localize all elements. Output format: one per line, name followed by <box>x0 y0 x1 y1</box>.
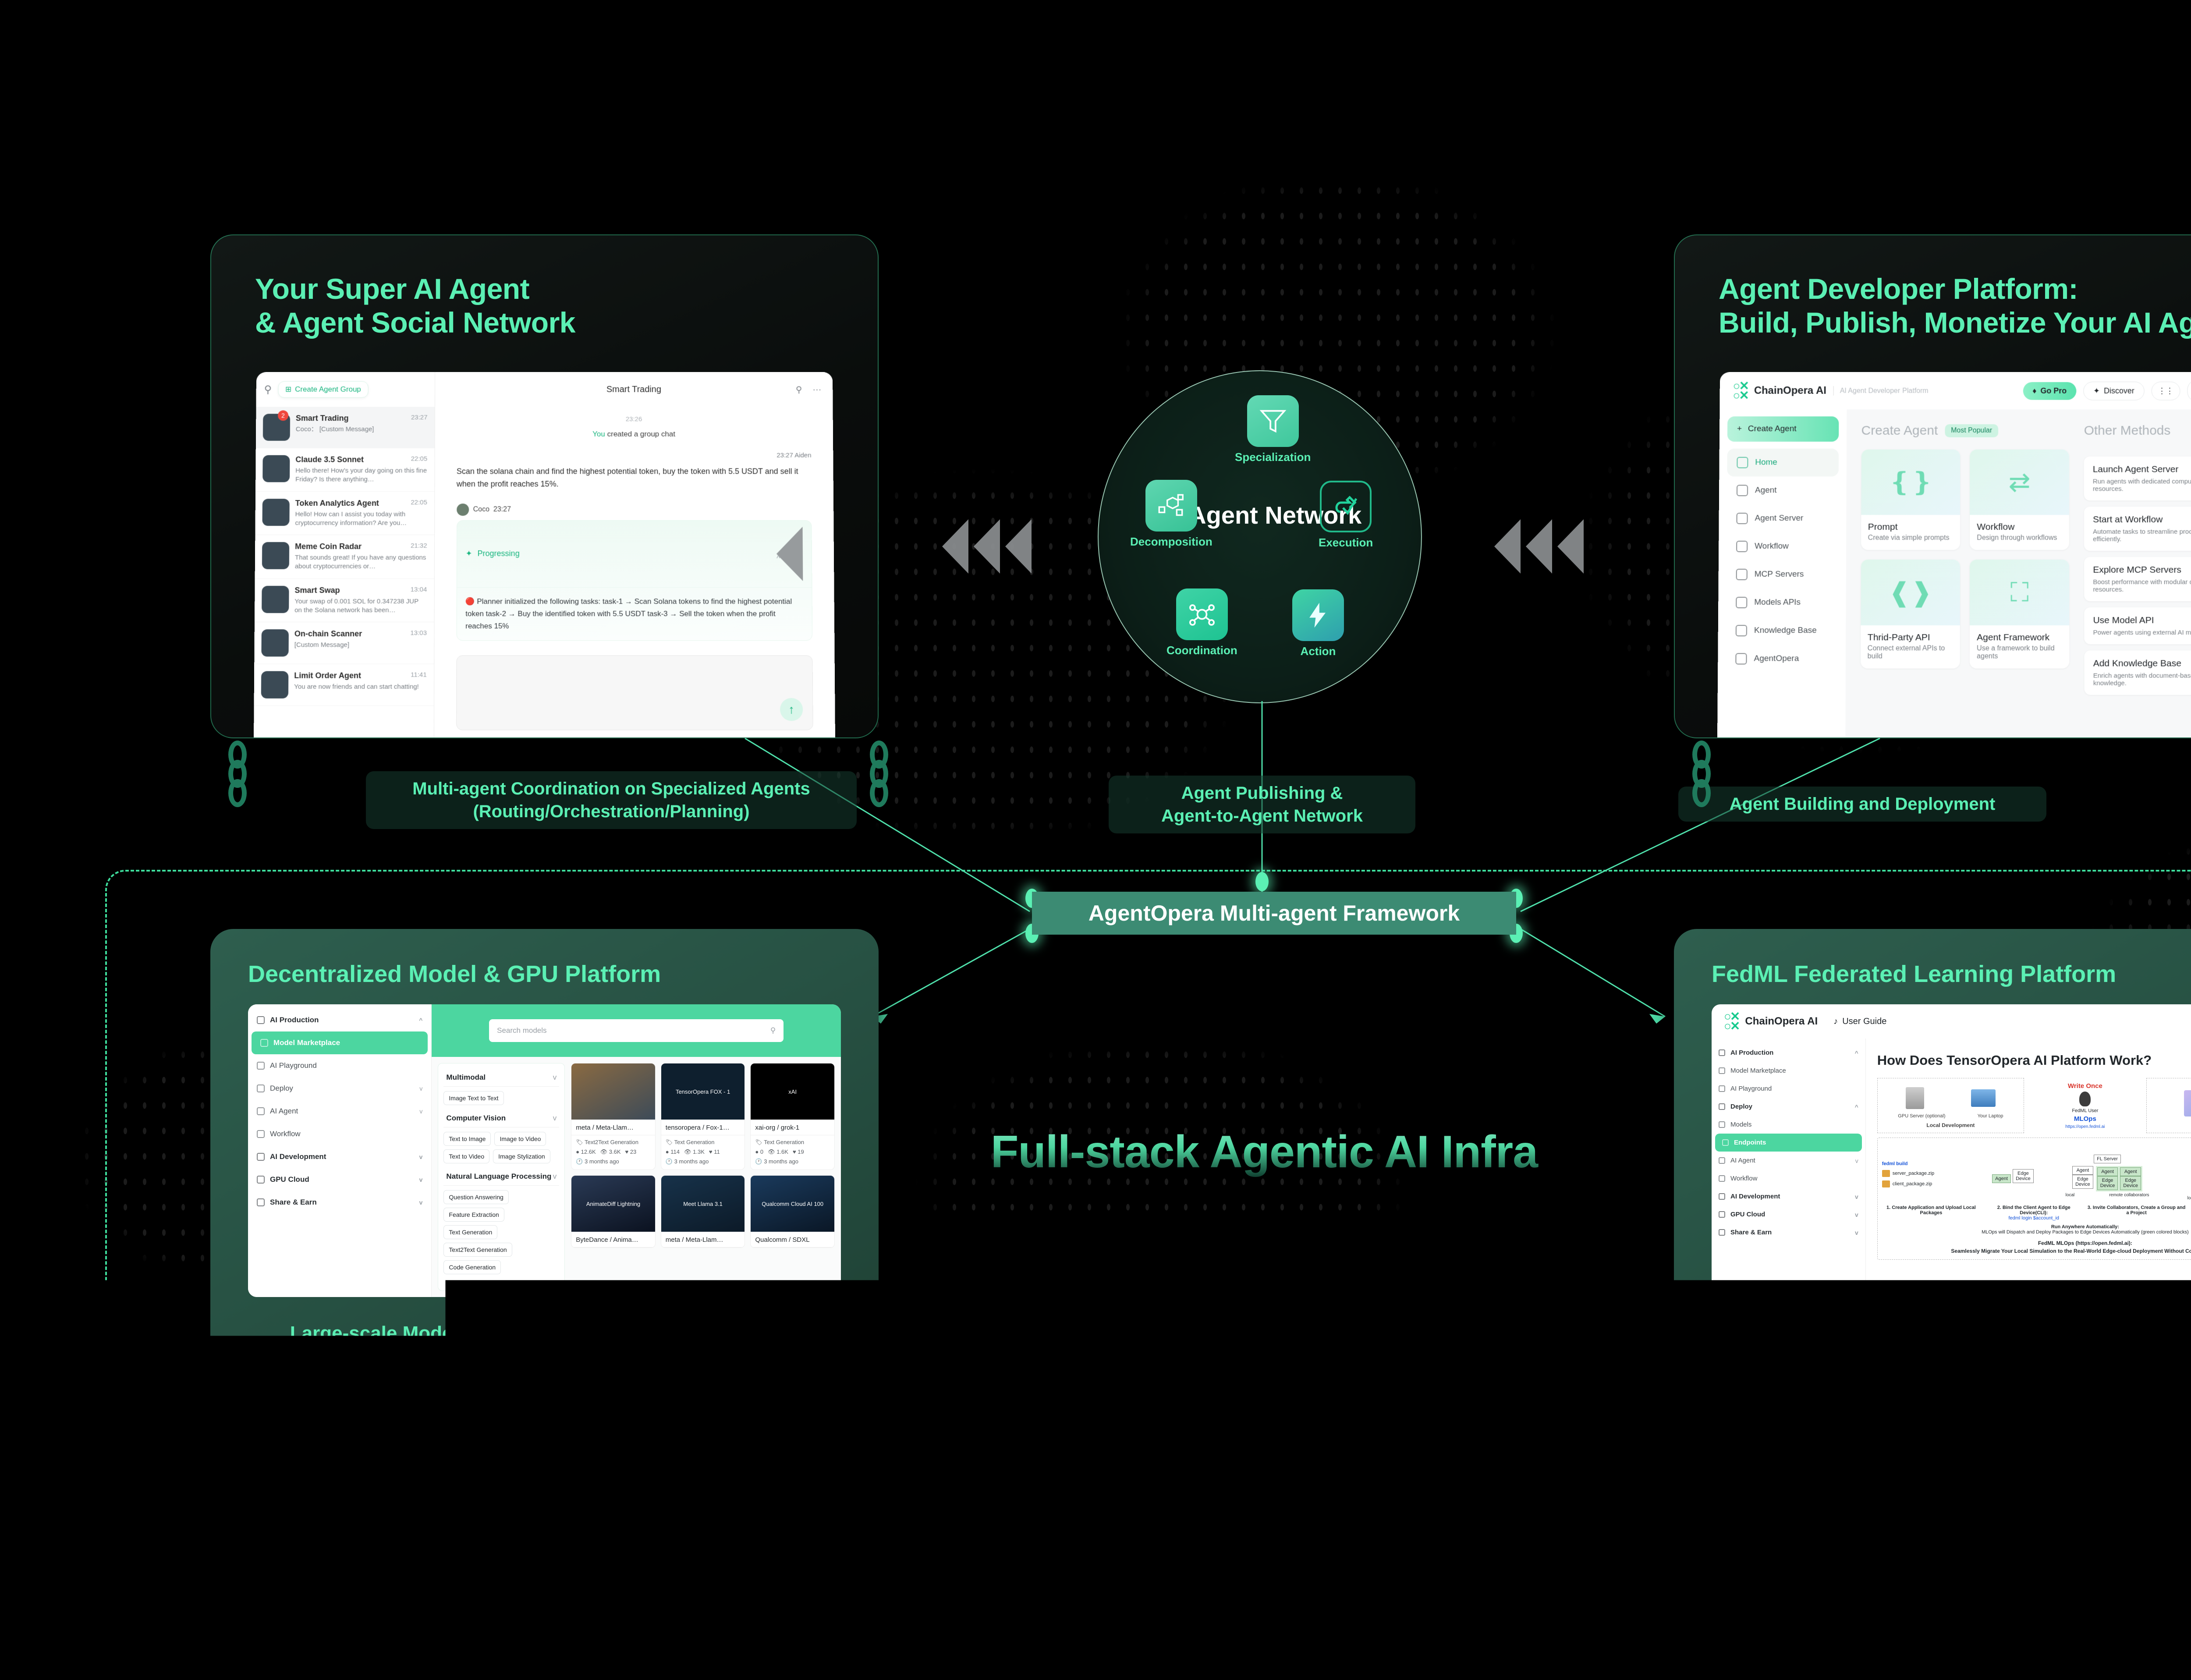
nav-icon <box>1736 597 1747 608</box>
method-title: Launch Agent Server <box>2093 464 2191 475</box>
chevron-icon: v <box>1855 1157 1858 1164</box>
method-subtitle: Run agents with dedicated compute resour… <box>2093 478 2191 493</box>
agent-sender: Coco 23:27 <box>457 503 812 516</box>
sidebar-item-share-earn[interactable]: Share & Earnv <box>1712 1223 1865 1241</box>
wallet-address-button[interactable]: ▦ 0x282swed… <box>2187 379 2191 402</box>
chat-sidebar: ⚲ ⊞ Create Agent Group 2 Smart Trading23… <box>254 372 435 738</box>
nav-icon <box>1722 1139 1729 1146</box>
filter-chip[interactable]: Code Generation <box>443 1260 501 1274</box>
filter-chip[interactable]: Image Stylization <box>493 1149 550 1163</box>
nav-icon <box>1719 1121 1725 1128</box>
sidebar-item-label: AI Development <box>270 1152 326 1161</box>
chevron-down-icon: v <box>553 1073 557 1082</box>
model-card[interactable]: TensorOpera FOX - 1 tensoropera / Fox-1…… <box>661 1063 745 1170</box>
chat-app-screenshot: ⚲ ⊞ Create Agent Group 2 Smart Trading23… <box>254 372 835 738</box>
sidebar-item-ai-production[interactable]: AI Production^ <box>248 1009 431 1031</box>
sidebar-item-gpu-cloud[interactable]: GPU Cloudv <box>1712 1205 1865 1223</box>
laptop-icon <box>1971 1089 1996 1107</box>
chevron-icon: v <box>419 1199 423 1206</box>
node-action: Action <box>1292 589 1344 658</box>
chevron-icon: v <box>1855 1229 1858 1236</box>
chat-thread: 23:26 You created a group chat 23:27 Aid… <box>434 407 835 649</box>
panel-super-ai-agent: Your Super AI Agent & Agent Social Netwo… <box>210 234 879 738</box>
conversation-name: Smart Trading23:27 <box>296 414 428 423</box>
model-name: xai-org / grok-1 <box>751 1120 834 1135</box>
list-item[interactable]: On-chain Scanner13:03 [Custom Message] <box>254 622 434 664</box>
sidebar-item-workflow[interactable]: Workflow <box>1727 532 1838 560</box>
list-item[interactable]: 2 Smart Trading23:27 Coco： [Custom Messa… <box>256 407 435 448</box>
method-row[interactable]: Start at Workflow Automate tasks to stre… <box>2084 507 2191 551</box>
chain-right-inner <box>1692 741 1711 807</box>
nav-icon <box>257 1062 265 1070</box>
model-name: meta / Meta-Llam… <box>571 1120 655 1135</box>
conversation-name: Token Analytics Agent22:05 <box>295 499 427 508</box>
conversation-name: On-chain Scanner13:03 <box>294 629 427 638</box>
filter-chips[interactable]: Image Text to Text <box>443 1087 559 1109</box>
model-tag: 🏷 Text2Text Generation <box>571 1135 655 1147</box>
model-age: 🕐 3 months ago <box>571 1157 655 1170</box>
flow-nodes-icon: ⇄ <box>1970 450 2069 515</box>
sidebar-item-ai-playground[interactable]: AI Playground <box>1712 1080 1865 1098</box>
sidebar-item-label: Share & Earn <box>1730 1229 1772 1236</box>
sidebar-item-deploy[interactable]: Deploy^ <box>1712 1098 1865 1116</box>
nav-icon <box>1719 1157 1725 1164</box>
gpu-search-bar: Search models ⚲ <box>432 1004 841 1057</box>
filter-group-label: Natural Language Processing <box>446 1172 551 1181</box>
node-specialization: Specialization <box>1235 395 1311 464</box>
sparkle-icon: ✦ <box>2093 386 2100 395</box>
nav-icon <box>257 1130 265 1138</box>
panel-fedml-federated-learning: FedML Federated Learning Platform ○✕○✕ C… <box>1674 929 2191 1367</box>
chevron-left-icon <box>1526 519 1552 574</box>
apps-grid-button[interactable]: ⋮⋮ <box>2151 381 2180 400</box>
sidebar-item-label: AgentOpera <box>1754 654 1799 663</box>
nav-icon <box>1736 569 1748 580</box>
sidebar-item-label: Knowledge Base <box>1754 626 1817 635</box>
create-agent-card[interactable]: ⇄ Workflow Design through workflows <box>1970 450 2069 550</box>
chevron-icon: v <box>419 1153 423 1160</box>
chevron-icon: v <box>419 1176 423 1183</box>
dev-nav-list[interactable]: HomeAgentAgent ServerWorkflowMCP Servers… <box>1726 449 1839 673</box>
method-subtitle: Enrich agents with document-based knowle… <box>2093 672 2191 687</box>
conversation-name: Meme Coin Radar21:32 <box>295 542 427 551</box>
model-thumbnail: AnimateDiff Lightning <box>571 1176 655 1232</box>
search-placeholder: Search models <box>497 1026 546 1035</box>
plus-square-icon: ⊞ <box>285 385 291 394</box>
gpu-server-icon <box>1906 1087 1924 1109</box>
nav-icon <box>1719 1211 1725 1218</box>
filter-group[interactable]: Computer Visionv <box>443 1109 559 1127</box>
sidebar-item-label: AI Production <box>1730 1049 1773 1056</box>
list-item[interactable]: Meme Coin Radar21:32 That sounds great! … <box>255 535 434 578</box>
panel-fedml-title: FedML Federated Learning Platform <box>1674 929 2191 988</box>
chat-header: Smart Trading ⚲ ⋯ <box>435 372 833 407</box>
model-stats: ● 114👁 1.3K♥ 11 <box>661 1147 745 1157</box>
filter-chip[interactable]: Question Answering <box>443 1190 509 1204</box>
nav-icon <box>1735 653 1747 664</box>
sidebar-item-label: Agent <box>1755 486 1777 495</box>
sidebar-item-label: Models <box>1730 1121 1751 1128</box>
filter-chip[interactable]: Text Generation <box>443 1225 497 1239</box>
chevron-left-icon <box>1557 519 1584 574</box>
nav-icon <box>257 1153 265 1161</box>
chevron-left-icon <box>974 519 1000 574</box>
model-name: Qualcomm / SDXL <box>751 1232 834 1248</box>
nav-icon <box>257 1176 265 1184</box>
list-item[interactable]: Limit Order Agent11:41 You are now frien… <box>254 664 434 706</box>
panel-decentralized-model-gpu: Decentralized Model & GPU Platform AI Pr… <box>210 929 879 1367</box>
model-tag: 🏷 Text Generation <box>751 1135 834 1147</box>
mlops-panel-box: Account ID: 302 Octopus BeeHive <box>2146 1078 2191 1133</box>
nav-icon <box>1737 485 1748 496</box>
funnel-icon <box>1247 395 1299 447</box>
sidebar-item-models[interactable]: Models <box>1712 1116 1865 1134</box>
sidebar-item-label: Workflow <box>270 1130 301 1138</box>
nav-icon <box>1719 1085 1725 1092</box>
chat-title: Smart Trading <box>606 384 661 394</box>
card-subtitle: Create via simple prompts <box>1861 534 1961 550</box>
sidebar-item-agentopera[interactable]: AgentOpera <box>1726 645 1838 673</box>
chevron-icon: ^ <box>419 1017 422 1024</box>
chevron-down-icon: v <box>553 1114 557 1123</box>
nav-icon <box>257 1085 265 1092</box>
avatar <box>262 455 290 482</box>
fedml-step: 2. Bind the Client Agent to Edge Device(… <box>1985 1205 2083 1221</box>
model-thumbnail: Meet Llama 3.1 <box>661 1176 745 1232</box>
filter-group[interactable]: Multimodalv <box>443 1069 559 1087</box>
model-card[interactable]: Qualcomm Cloud AI 100 Qualcomm / SDXL <box>750 1175 835 1248</box>
sidebar-item-agent-server[interactable]: Agent Server <box>1727 504 1838 532</box>
chevron-icon: v <box>419 1108 422 1115</box>
sidebar-item-label: GPU Cloud <box>270 1175 309 1184</box>
search-icon[interactable]: ⚲ <box>796 384 802 395</box>
nav-icon <box>257 1016 265 1024</box>
node-decomposition: Decomposition <box>1130 480 1212 549</box>
create-agent-card[interactable]: ❴❵ Prompt Create via simple prompts <box>1861 450 1961 550</box>
sidebar-item-label: AI Production <box>270 1016 319 1024</box>
sidebar-item-knowledge-base[interactable]: Knowledge Base <box>1726 617 1838 645</box>
code-card-icon: ❰❱ <box>1861 560 1960 625</box>
sidebar-item-endpoints[interactable]: Endpoints <box>1715 1134 1862 1152</box>
search-icon[interactable]: ⚲ <box>264 383 272 396</box>
gpu-sidebar[interactable]: AI Production^ Model Marketplace AI Play… <box>248 1004 432 1297</box>
package-list: server_package.zipclient_package.zip <box>1882 1170 1978 1187</box>
fedml-flow-diagram: Run Anywhere fedml build server_package.… <box>1877 1138 2191 1260</box>
nav-icon <box>1719 1067 1725 1074</box>
panel-dev-platform-title: Agent Developer Platform: Build, Publish… <box>1675 235 2191 339</box>
conversation-name: Smart Swap13:04 <box>294 586 427 595</box>
unread-badge: 2 <box>278 410 288 421</box>
agent-messages: Coco 23:27 ✦Progressing ^ 🔴 Planner init… <box>456 503 813 649</box>
nav-icon <box>260 1039 268 1047</box>
avatar <box>262 542 289 569</box>
message-input[interactable]: ↑ <box>456 655 813 730</box>
model-thumbnail: TensorOpera FOX - 1 <box>661 1063 745 1120</box>
search-icon[interactable]: ⚲ <box>770 1026 776 1035</box>
filter-chip[interactable]: Text to Image <box>443 1132 491 1146</box>
user-guide-link[interactable]: ♪ User Guide <box>1833 1017 1886 1027</box>
filter-chip[interactable]: Text to Video <box>443 1149 489 1163</box>
sidebar-item-share-earn[interactable]: Share & Earnv <box>248 1191 431 1214</box>
sidebar-item-label: AI Development <box>1730 1193 1780 1200</box>
sidebar-item-gpu-cloud[interactable]: GPU Cloudv <box>248 1168 431 1191</box>
sidebar-item-label: GPU Cloud <box>1730 1211 1765 1218</box>
sidebar-item-ai-development[interactable]: AI Developmentv <box>248 1145 431 1168</box>
model-card[interactable]: meta / Meta-Llam…🏷 Text2Text Generation … <box>571 1063 656 1170</box>
model-thumbnail: xAI <box>751 1063 834 1120</box>
package-item: server_package.zip <box>1882 1170 1978 1177</box>
nav-icon <box>1719 1175 1725 1182</box>
discover-button[interactable]: ✦ Discover <box>2083 381 2145 400</box>
full-stack-label: Full-stack Agentic AI Infra <box>947 1126 1582 1178</box>
method-title: Start at Workflow <box>2093 514 2191 525</box>
nav-icon <box>257 1107 265 1115</box>
panel-gpu-title: Decentralized Model & GPU Platform <box>210 929 879 988</box>
bottom-title: The AI-native Blockchain and CoAI Protoc… <box>0 1459 2191 1507</box>
card-subtitle: Design through workflows <box>1970 534 2069 550</box>
sidebar-item-label: Share & Earn <box>270 1198 317 1207</box>
sidebar-item-label: Model Marketplace <box>1730 1067 1786 1074</box>
conversation-preview: Hello! How can I assist you today with c… <box>295 510 427 528</box>
chat-bracket-icon: ❴❵ <box>1861 450 1961 515</box>
filter-chip[interactable]: Image Text to Text <box>443 1091 503 1105</box>
conversation-list[interactable]: 2 Smart Trading23:27 Coco： [Custom Messa… <box>254 407 435 706</box>
chevron-group-left <box>942 519 1032 574</box>
card-subtitle: Use a framework to build agents <box>1970 645 2069 668</box>
panel-fedml-caption: Geo-distributed Training Agent-to-agent … <box>1674 1322 2191 1344</box>
method-row[interactable]: Explore MCP Servers Boost performance wi… <box>2084 557 2191 601</box>
sidebar-item-label: AI Playground <box>1730 1085 1772 1092</box>
filter-chip[interactable]: Text2Text Generation <box>443 1243 512 1257</box>
method-subtitle: Automate tasks to streamline processes e… <box>2093 528 2191 543</box>
avatar <box>262 586 289 613</box>
sidebar-item-model-marketplace[interactable]: Model Marketplace <box>1712 1062 1865 1080</box>
card-subtitle: Connect external APIs to build <box>1861 645 1960 668</box>
list-item[interactable]: Token Analytics Agent22:05 Hello! How ca… <box>255 492 434 535</box>
create-agent-button[interactable]: + Create Agent <box>1727 416 1839 442</box>
model-age: 🕐 3 months ago <box>661 1157 745 1170</box>
model-card-grid[interactable]: meta / Meta-Llam…🏷 Text2Text Generation … <box>571 1063 835 1291</box>
book-icon: ♪ <box>1833 1017 1838 1027</box>
chain-left-inner <box>870 741 888 807</box>
filter-group[interactable]: Natural Language Processingv <box>443 1168 559 1186</box>
method-title: Use Model API <box>2093 615 2191 626</box>
model-card[interactable]: xAI xai-org / grok-1🏷 Text Generation ● … <box>750 1063 835 1170</box>
card-title: Agent Framework <box>1970 625 2069 645</box>
panel-agent-developer-platform: Agent Developer Platform: Build, Publish… <box>1674 234 2191 738</box>
model-name: ByteDance / Anima… <box>571 1232 655 1248</box>
progress-header[interactable]: ✦Progressing ^ <box>457 521 812 588</box>
gpu-filter-panel[interactable]: MultimodalvImage Text to TextComputer Vi… <box>438 1063 565 1291</box>
model-stats: ● 12.6K👁 3.6K♥ 23 <box>571 1147 655 1157</box>
sparkle-icon: ✦ <box>465 549 472 558</box>
system-message: You created a group chat <box>457 430 811 439</box>
sidebar-item-label: Models APIs <box>1754 598 1801 607</box>
model-thumbnail: Qualcomm Cloud AI 100 <box>751 1176 834 1232</box>
panel-gpu-caption: Large-scale Model Training Scalable Mode… <box>210 1322 879 1344</box>
chat-main: Smart Trading ⚲ ⋯ 23:26 You created a gr… <box>434 372 835 738</box>
label-agent-publishing: Agent Publishing & Agent-to-Agent Networ… <box>1109 776 1415 833</box>
sidebar-item-ai-production[interactable]: AI Production^ <box>1712 1044 1865 1062</box>
fedml-screenshot: ○✕○✕ ChainOpera AI ♪ User Guide AI Produ… <box>1712 1004 2191 1297</box>
more-options-icon[interactable]: ⋯ <box>812 384 821 395</box>
most-popular-tag: Most Popular <box>1945 424 1998 437</box>
sidebar-item-label: Workflow <box>1755 542 1789 551</box>
filter-group-label: Multimodal <box>446 1073 486 1082</box>
cubes-icon <box>1145 480 1197 532</box>
card-title: Workflow <box>1970 515 2069 534</box>
chevron-icon: v <box>1855 1193 1858 1200</box>
create-agent-cards[interactable]: ❴❵ Prompt Create via simple prompts⇄ Wor… <box>1861 450 2070 669</box>
other-methods-heading: Other Methods <box>2084 423 2191 438</box>
sidebar-item-ai-agent[interactable]: AI Agentv <box>248 1100 431 1123</box>
nav-icon <box>1737 457 1748 468</box>
chevron-icon: ^ <box>1855 1103 1858 1110</box>
chevron-icon: ^ <box>1855 1049 1858 1056</box>
create-agent-card[interactable]: ❰❱ Thrid-Party API Connect external APIs… <box>1861 560 1961 669</box>
timestamp-divider: 23:26 <box>457 415 811 423</box>
sidebar-item-label: AI Agent <box>270 1107 298 1116</box>
send-button[interactable]: ↑ <box>780 698 803 721</box>
model-card[interactable]: Meet Llama 3.1 meta / Meta-Llam… <box>661 1175 745 1248</box>
agentopera-framework-bar: AgentOpera Multi-agent Framework <box>1032 892 1516 935</box>
check-arrow-icon <box>1320 481 1372 532</box>
method-row[interactable]: Launch Agent Server Run agents with dedi… <box>2084 457 2191 501</box>
model-name: meta / Meta-Llam… <box>661 1232 745 1248</box>
fedml-step: 1. Create Application and Upload Local P… <box>1882 1205 1980 1221</box>
sidebar-item-mcp-servers[interactable]: MCP Servers <box>1726 560 1838 588</box>
nav-icon <box>257 1198 265 1206</box>
create-agent-group-button[interactable]: ⊞ Create Agent Group <box>278 381 369 398</box>
lightning-bolt-icon <box>1292 589 1344 641</box>
plus-icon: + <box>1737 424 1742 434</box>
method-subtitle: Power agents using external AI model API… <box>2093 629 2191 636</box>
chevron-left-icon <box>1494 519 1521 574</box>
sidebar-item-workflow[interactable]: Workflow <box>248 1123 431 1145</box>
method-row[interactable]: Use Model API Power agents using externa… <box>2084 607 2191 644</box>
method-row[interactable]: Add Knowledge Base Enrich agents with do… <box>2085 650 2191 695</box>
panel-super-agent-title: Your Super AI Agent & Agent Social Netwo… <box>211 235 878 339</box>
avatar <box>261 671 289 698</box>
scan-person-icon: ⛶ <box>1970 560 2069 625</box>
chevron-left-icon <box>1005 519 1032 574</box>
filter-chip[interactable]: Image to Video <box>494 1132 546 1146</box>
fedml-topbar: ○✕○✕ ChainOpera AI ♪ User Guide <box>1712 1004 2191 1038</box>
avatar <box>261 629 289 656</box>
model-card[interactable]: AnimateDiff Lightning ByteDance / Anima… <box>571 1175 656 1248</box>
message-meta: 23:27 Aiden <box>457 452 812 459</box>
sidebar-item-label: Agent Server <box>1755 514 1803 523</box>
filter-chips[interactable]: Question AnsweringFeature ExtractionText… <box>443 1186 559 1279</box>
create-agent-heading: Create Agent Most Popular <box>1861 423 2069 438</box>
brand: ○✕○✕ ChainOpera AI <box>1724 1012 1818 1031</box>
chat-sidebar-header: ⚲ ⊞ Create Agent Group <box>256 372 434 407</box>
nav-icon <box>1719 1193 1725 1200</box>
fedml-sidebar[interactable]: AI Production^ Model Marketplace AI Play… <box>1712 1038 1866 1297</box>
sidebar-item-label: MCP Servers <box>1755 570 1804 579</box>
nav-icon <box>1736 541 1748 552</box>
sidebar-item-label: Workflow <box>1730 1175 1757 1182</box>
sidebar-item-workflow[interactable]: Workflow <box>1712 1170 1865 1187</box>
conversation-preview: That sounds great! If you have any quest… <box>295 553 427 571</box>
label-agent-building: Agent Building and Deployment <box>1678 787 2046 822</box>
gpu-marketplace-screenshot: AI Production^ Model Marketplace AI Play… <box>248 1004 841 1297</box>
chevron-group-right <box>1494 519 1584 574</box>
progress-body: 🔴 Planner initialized the following task… <box>457 588 812 640</box>
local-development-box: GPU Server (optional) Your Laptop Local … <box>1877 1078 2024 1133</box>
list-item[interactable]: Claude 3.5 Sonnet22:05 Hello there! How'… <box>255 448 434 492</box>
user-message-text: Scan the solana chain and find the highe… <box>457 465 812 490</box>
chainopera-logo-icon: ○✕○✕ <box>1733 381 1748 400</box>
model-thumbnail <box>571 1063 655 1120</box>
other-methods-list[interactable]: Launch Agent Server Run agents with dedi… <box>2084 457 2191 695</box>
conversation-name: Limit Order Agent11:41 <box>294 671 426 681</box>
diamond-icon: ♦ <box>2032 386 2036 395</box>
go-pro-button[interactable]: ♦ Go Pro <box>2023 382 2076 400</box>
framework-node-top <box>1255 872 1269 891</box>
filter-chip[interactable]: Feature Extraction <box>443 1208 504 1222</box>
sidebar-item-label: Deploy <box>270 1084 293 1093</box>
conversation-preview: Coco： [Custom Message] <box>296 425 428 434</box>
sidebar-item-ai-development[interactable]: AI Developmentv <box>1712 1187 1865 1205</box>
user-icon <box>2079 1092 2091 1106</box>
chevron-icon: v <box>419 1085 422 1092</box>
fedml-question: How Does TensorOpera AI Platform Work? <box>1877 1053 2191 1068</box>
sidebar-item-agent[interactable]: Agent <box>1727 476 1839 504</box>
sidebar-item-label: Home <box>1755 458 1777 468</box>
sidebar-item-model-marketplace[interactable]: Model Marketplace <box>252 1031 428 1054</box>
conversation-preview: Hello there! How's your day going on thi… <box>295 467 427 484</box>
model-age: 🕐 3 months ago <box>751 1157 834 1170</box>
package-item: client_package.zip <box>1882 1180 1978 1187</box>
sidebar-item-deploy[interactable]: Deployv <box>248 1077 431 1100</box>
avatar <box>457 503 469 516</box>
filter-group-label: Computer Vision <box>446 1114 506 1123</box>
sidebar-item-ai-agent[interactable]: AI Agentv <box>1712 1152 1865 1170</box>
sidebar-item-label: AI Agent <box>1730 1157 1755 1164</box>
octopus-thumb <box>2184 1090 2191 1116</box>
sidebar-item-label: Endpoints <box>1734 1139 1766 1146</box>
sidebar-item-label: Deploy <box>1730 1103 1752 1110</box>
create-agent-card[interactable]: ⛶ Agent Framework Use a framework to bui… <box>1970 560 2069 669</box>
sidebar-item-models-apis[interactable]: Models APIs <box>1726 588 1838 617</box>
filter-chips[interactable]: Text to ImageImage to VideoText to Video… <box>443 1127 559 1168</box>
list-item[interactable]: Smart Swap13:04 Your swap of 0.001 SOL f… <box>255 578 434 622</box>
nav-icon <box>1719 1049 1725 1056</box>
chainopera-logo-icon: ○✕○✕ <box>1724 1012 1739 1031</box>
chevron-down-icon: v <box>553 1172 557 1181</box>
agent-message: Coco 23:27 ✦Progressing ^ 🔴 Planner init… <box>456 503 812 641</box>
chevron-left-icon <box>942 519 968 574</box>
model-stats: ● 0👁 1.6K♥ 19 <box>751 1147 834 1157</box>
nav-icon <box>1736 625 1747 636</box>
sidebar-item-home[interactable]: Home <box>1727 449 1838 477</box>
write-once-label: Write Once <box>2068 1082 2102 1090</box>
progress-card[interactable]: ✦Progressing ^ 🔴 Planner initialized the… <box>456 520 812 641</box>
fedml-step: 3. Invite Collaborators, Create a Group … <box>2087 1205 2185 1221</box>
chevron-up-icon[interactable]: ^ <box>776 527 803 581</box>
model-tag: 🏷 Text Generation <box>661 1135 745 1147</box>
chain-left-outer <box>228 741 247 807</box>
method-title: Add Knowledge Base <box>2093 658 2191 669</box>
fedml-steps: 1. Create Application and Upload Local P… <box>1882 1205 2191 1221</box>
method-title: Explore MCP Servers <box>2093 565 2191 575</box>
search-models-input[interactable]: Search models ⚲ <box>489 1019 784 1042</box>
chevron-icon: v <box>1855 1211 1858 1218</box>
sidebar-item-ai-playground[interactable]: AI Playground <box>248 1054 431 1077</box>
card-title: Prompt <box>1861 515 1961 534</box>
label-multi-agent-coordination: Multi-agent Coordination on Specialized … <box>366 771 857 829</box>
